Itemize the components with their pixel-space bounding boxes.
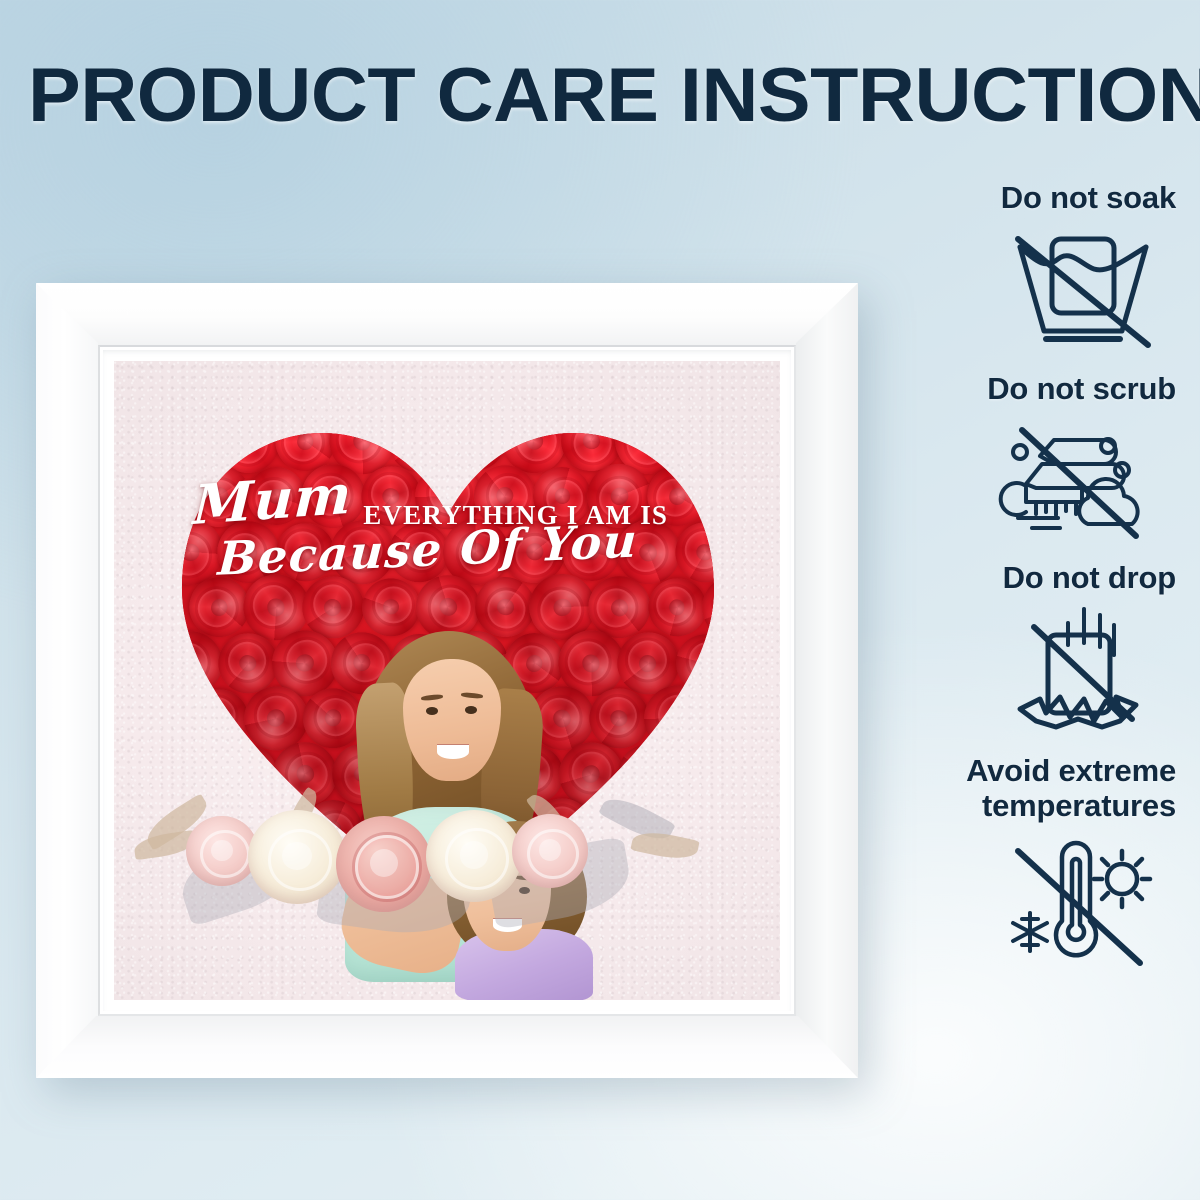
page-title: PRODUCT CARE INSTRUCTIONS <box>28 58 1200 134</box>
foam-rose <box>445 409 508 472</box>
mother-smile <box>437 745 469 759</box>
frame-bevel-left <box>36 283 98 1078</box>
foam-rose <box>276 523 334 581</box>
care-label-do-not-soak: Do not soak <box>862 180 1182 215</box>
shadowbox-interior: Mum EVERYTHING I AM IS Because Of You <box>114 361 780 1000</box>
mother-brow-right <box>461 692 483 699</box>
frame-bevel-bottom <box>36 1016 858 1078</box>
no-soak-icon <box>1008 221 1158 349</box>
foam-rose <box>531 465 594 528</box>
care-item-do-not-soak: Do not soak <box>862 180 1182 349</box>
mother-eye-left <box>426 707 438 715</box>
care-label-avoid-extreme: Avoid extreme <box>862 753 1182 788</box>
care-label-do-not-scrub: Do not scrub <box>862 371 1182 406</box>
foam-rose <box>645 576 708 639</box>
care-label-do-not-drop: Do not drop <box>862 560 1182 595</box>
foam-rose <box>188 687 251 750</box>
care-item-do-not-drop: Do not drop <box>862 560 1182 737</box>
mother-face <box>403 659 501 781</box>
no-scrub-icon <box>996 412 1158 540</box>
bouquet-bloom <box>248 810 346 904</box>
care-instructions-list: Do not soak Do not scrub <box>862 180 1182 971</box>
watercolor-bouquet <box>120 788 760 948</box>
no-extreme-temperature-icon <box>1000 829 1158 971</box>
product-photo-frame: Mum EVERYTHING I AM IS Because Of You <box>36 283 858 1078</box>
frame-bevel-right <box>796 283 858 1078</box>
foam-rose <box>670 517 741 588</box>
mother-brow-left <box>421 694 443 701</box>
bouquet-bloom <box>426 810 522 902</box>
care-item-avoid-extreme-temperatures: Avoid extreme temperatures <box>862 753 1182 971</box>
care-label-temperatures: temperatures <box>862 788 1182 823</box>
no-drop-icon <box>1006 601 1158 737</box>
bouquet-bloom <box>186 816 258 886</box>
mother-eye-right <box>465 706 477 714</box>
bouquet-bloom <box>336 816 432 912</box>
foam-rose <box>247 467 305 525</box>
frame-bevel-top <box>36 283 858 345</box>
bouquet-bloom <box>512 814 588 888</box>
care-item-do-not-scrub: Do not scrub <box>862 371 1182 540</box>
